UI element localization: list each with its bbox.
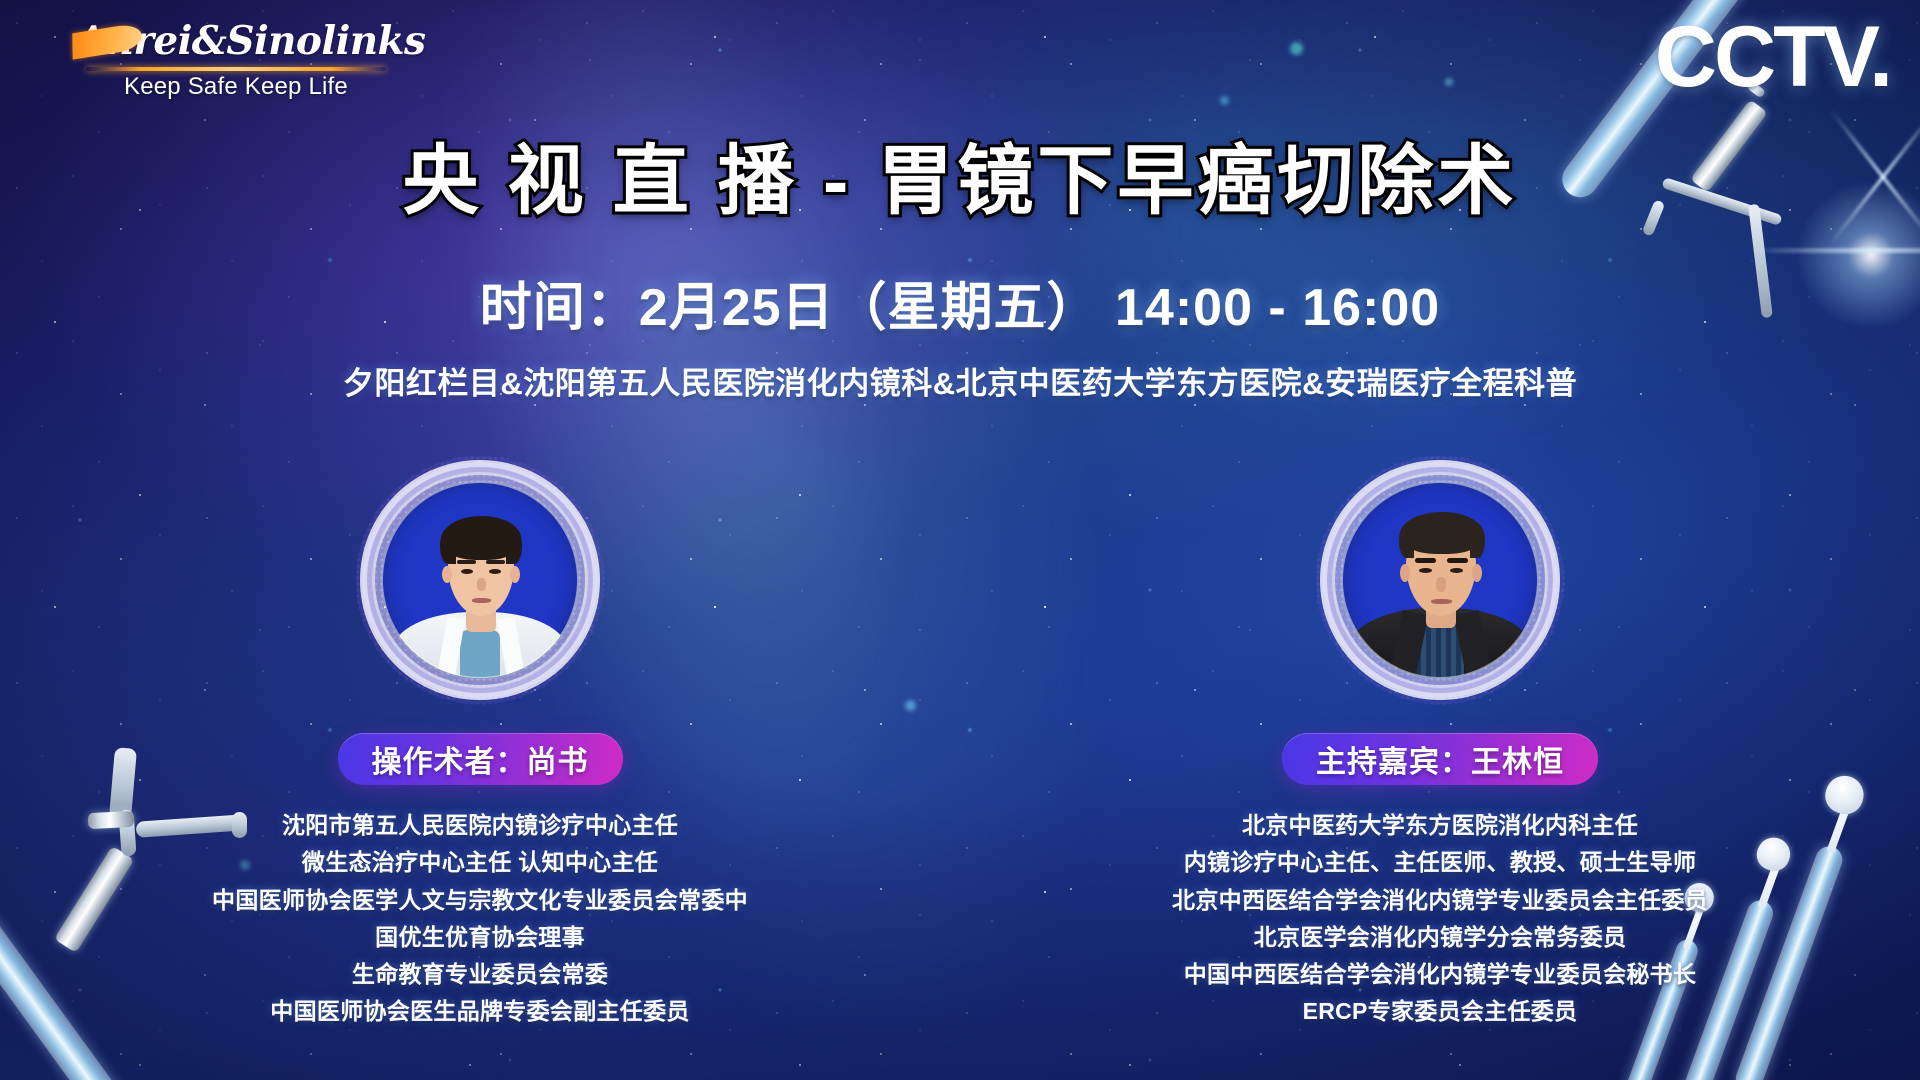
cctv-logo: CCTV. bbox=[1655, 14, 1890, 100]
brand-wordmark: Anrei&Sinolinks bbox=[76, 16, 396, 66]
avatar-operator bbox=[382, 482, 578, 678]
credential-line: 北京中西医结合学会消化内镜学专业委员会主任委员 bbox=[1172, 882, 1708, 919]
avatar-ring bbox=[360, 460, 600, 700]
name-badge-operator: 操作术者：尚书 bbox=[338, 733, 623, 785]
brand-logo: Anrei&Sinolinks Keep Safe Keep Life bbox=[76, 16, 396, 101]
poster-stage: Anrei&Sinolinks Keep Safe Keep Life CCTV… bbox=[0, 0, 1920, 1080]
person-card-operator: 操作术者：尚书 沈阳市第五人民医院内镜诊疗中心主任 微生态治疗中心主任 认知中心… bbox=[0, 455, 960, 1031]
credential-line: 沈阳市第五人民医院内镜诊疗中心主任 bbox=[212, 807, 748, 844]
avatar-host bbox=[1342, 482, 1538, 678]
people-row: 操作术者：尚书 沈阳市第五人民医院内镜诊疗中心主任 微生态治疗中心主任 认知中心… bbox=[0, 455, 1920, 1031]
credential-line: 内镜诊疗中心主任、主任医师、教授、硕士生导师 bbox=[1172, 844, 1708, 881]
avatar-ring bbox=[1320, 460, 1560, 700]
credential-line: ERCP专家委员会主任委员 bbox=[1172, 993, 1708, 1030]
person-card-host: 主持嘉宾：王林恒 北京中医药大学东方医院消化内科主任 内镜诊疗中心主任、主任医师… bbox=[960, 455, 1920, 1031]
credentials-host: 北京中医药大学东方医院消化内科主任 内镜诊疗中心主任、主任医师、教授、硕士生导师… bbox=[1172, 807, 1708, 1031]
event-time: 时间：2月25日（星期五） 14:00 - 16:00 bbox=[0, 265, 1920, 340]
page-title: 央 视 直 播 - 胃镜下早癌切除术 bbox=[0, 142, 1920, 222]
credentials-operator: 沈阳市第五人民医院内镜诊疗中心主任 微生态治疗中心主任 认知中心主任 中国医师协… bbox=[212, 807, 748, 1031]
brand-divider bbox=[86, 67, 386, 71]
credential-line: 国优生优育协会理事 bbox=[212, 919, 748, 956]
credential-line: 生命教育专业委员会常委 bbox=[212, 956, 748, 993]
credential-line: 微生态治疗中心主任 认知中心主任 bbox=[212, 844, 748, 881]
credential-line: 中国医师协会医生品牌专委会副主任委员 bbox=[212, 993, 748, 1030]
credential-line: 北京中医药大学东方医院消化内科主任 bbox=[1172, 807, 1708, 844]
brand-tagline: Keep Safe Keep Life bbox=[76, 73, 396, 101]
credential-line: 中国中西医结合学会消化内镜学专业委员会秘书长 bbox=[1172, 956, 1708, 993]
event-subtitle: 夕阳红栏目&沈阳第五人民医院消化内镜科&北京中医药大学东方医院&安瑞医疗全程科普 bbox=[0, 358, 1920, 403]
name-badge-host: 主持嘉宾：王林恒 bbox=[1282, 733, 1598, 785]
credential-line: 北京医学会消化内镜学分会常务委员 bbox=[1172, 919, 1708, 956]
credential-line: 中国医师协会医学人文与宗教文化专业委员会常委中 bbox=[212, 882, 748, 919]
